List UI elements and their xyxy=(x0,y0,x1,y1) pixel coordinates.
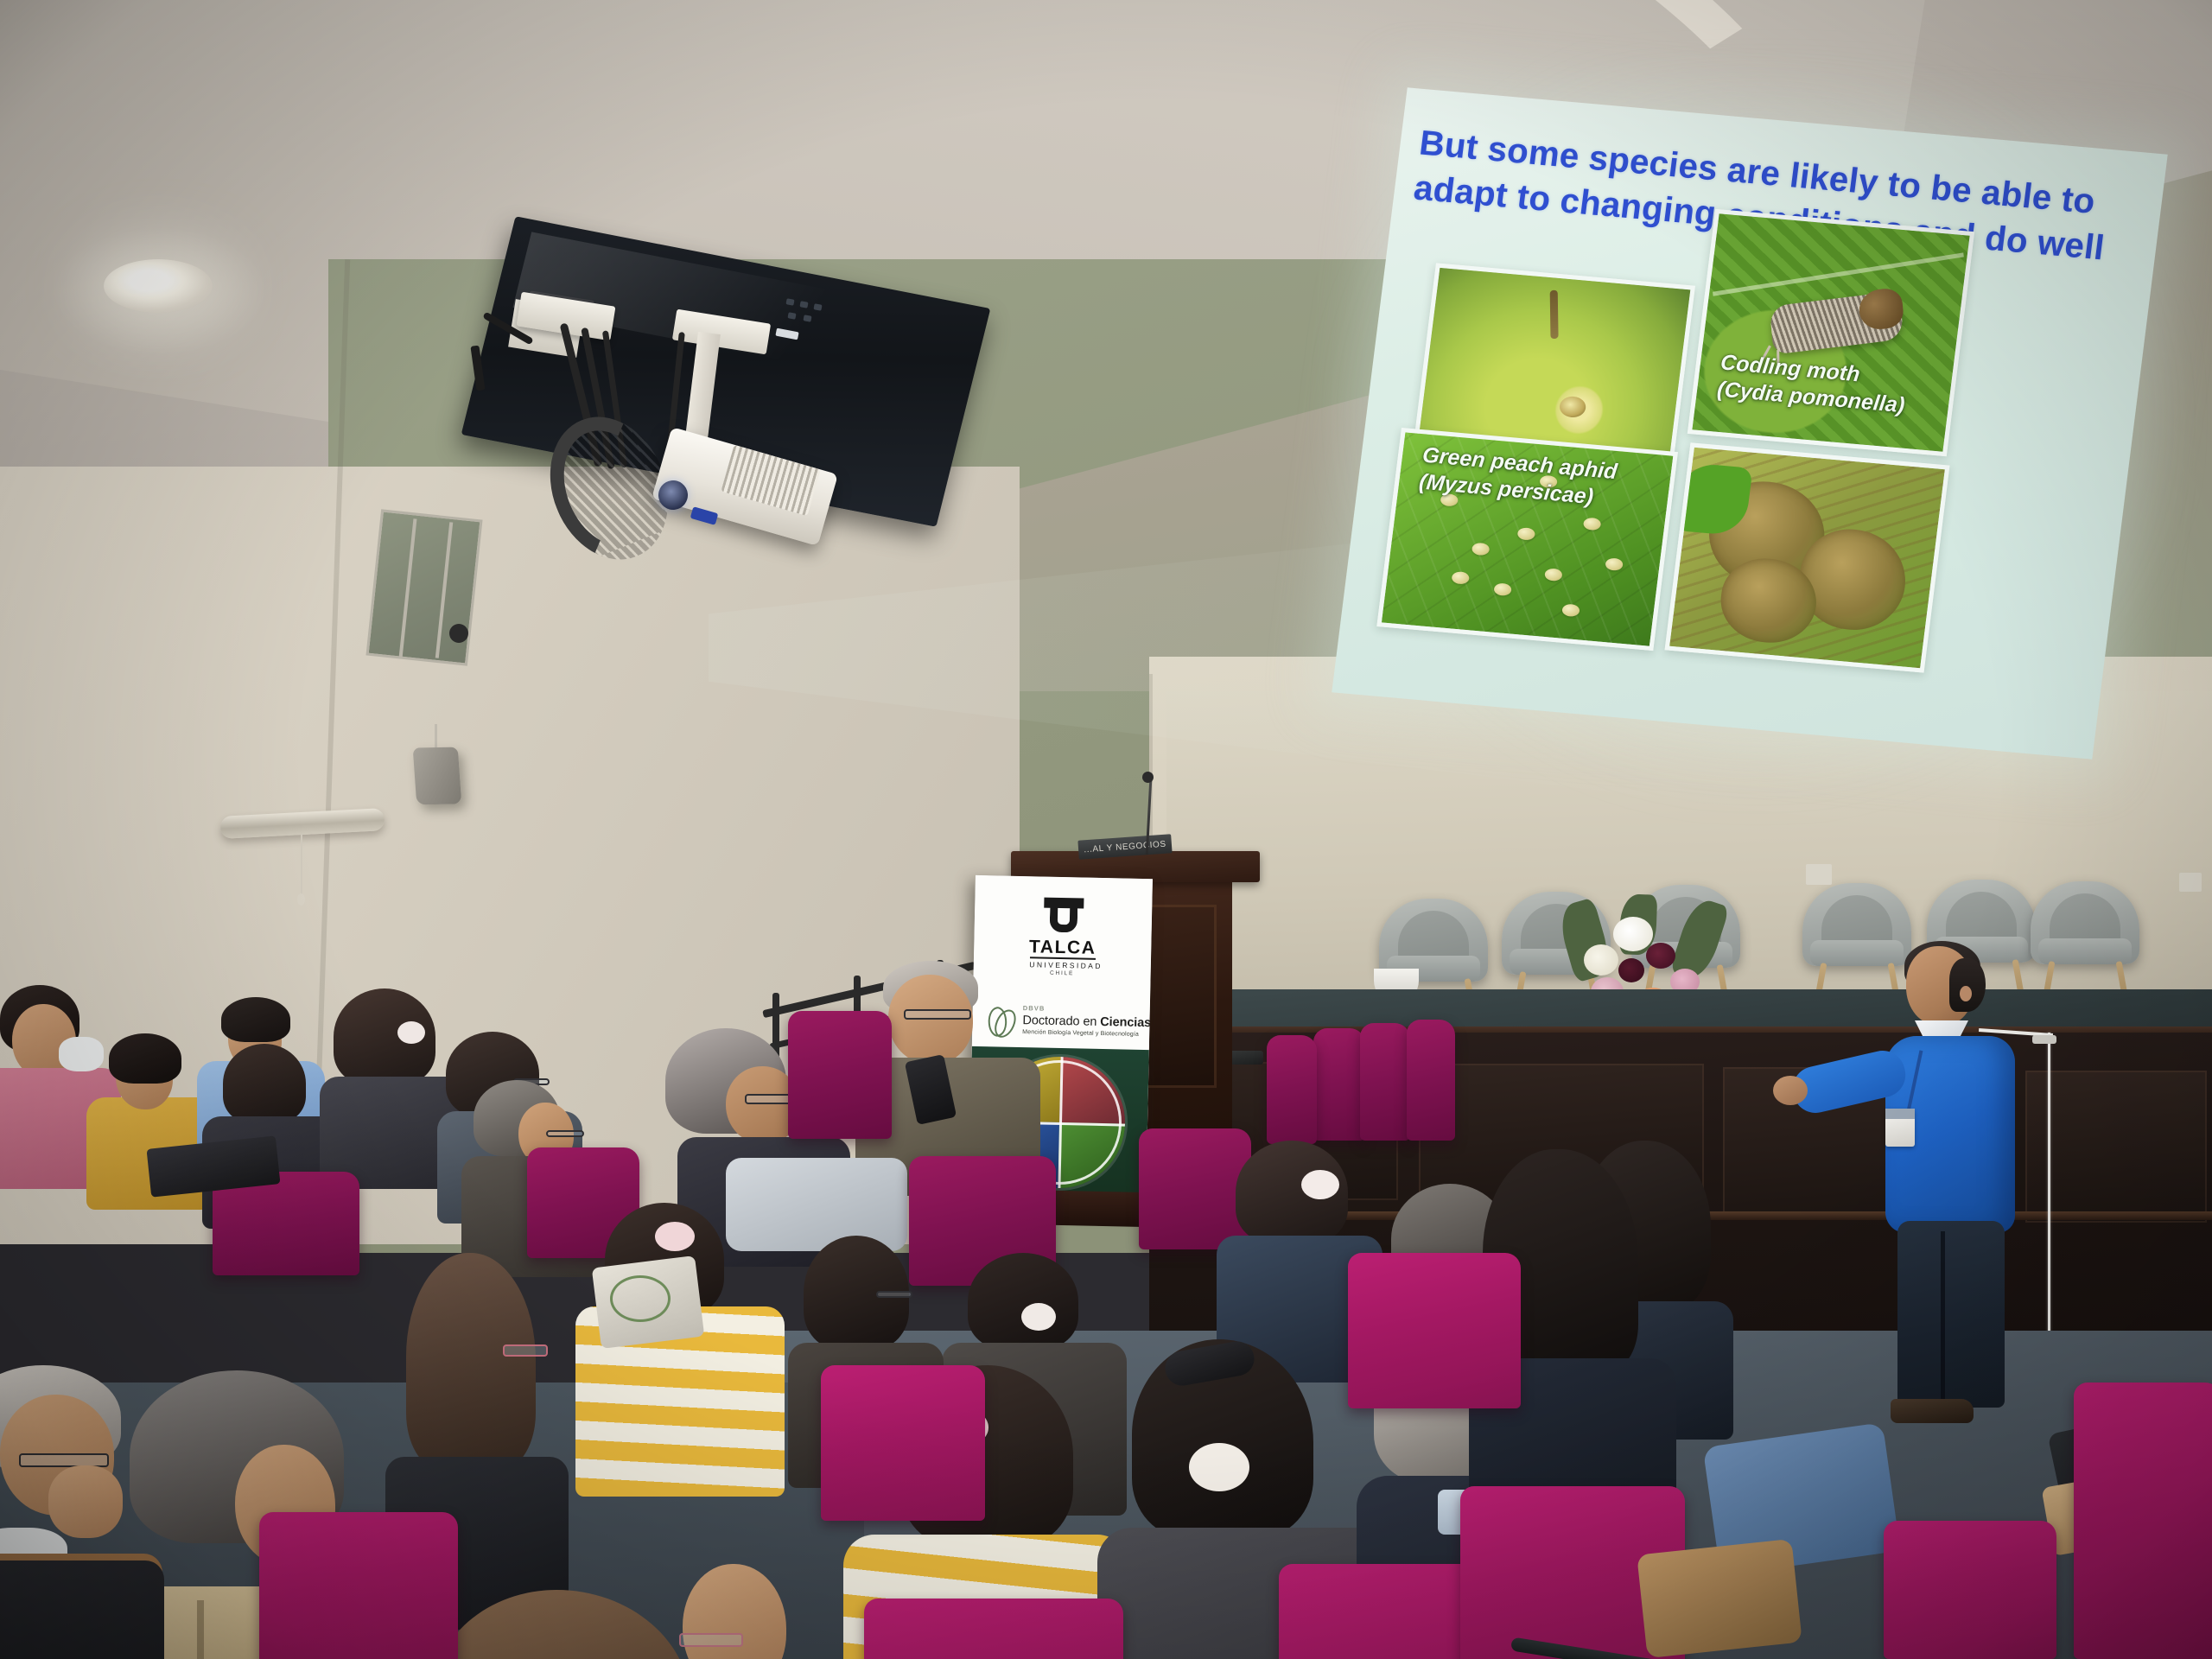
seat-back-3[interactable] xyxy=(1407,1020,1455,1141)
seat-back-5[interactable] xyxy=(788,1011,892,1139)
presenter-leg-seam xyxy=(1941,1231,1945,1404)
wall-outlet-2[interactable] xyxy=(2179,873,2202,892)
panel-button-2[interactable] xyxy=(799,301,808,308)
presenter-hair-back xyxy=(1949,958,1986,1012)
screen-cord-tip[interactable] xyxy=(297,893,305,906)
projected-slide: But some species are likely to be able t… xyxy=(1332,87,2168,759)
panel-button-5[interactable] xyxy=(803,315,811,322)
panel-button-4[interactable] xyxy=(787,312,796,320)
presenter-ear xyxy=(1960,986,1972,1001)
leaf-vein xyxy=(1713,252,1964,296)
downlight-1-haze xyxy=(52,226,268,356)
banner-university-sub: UNIVERSIDAD xyxy=(1029,957,1095,970)
audience-boot-1 xyxy=(1637,1539,1802,1658)
front-1-hand xyxy=(48,1465,123,1538)
slide-photo-damaged-leaves xyxy=(1665,442,1950,672)
presenter-shoe xyxy=(1891,1399,1974,1423)
seat-front-right-2[interactable] xyxy=(1884,1521,2056,1659)
wall-outlet[interactable] xyxy=(1806,864,1832,885)
audience xyxy=(0,994,1642,1659)
university-u-logo-icon xyxy=(1043,898,1084,935)
presenter-hand xyxy=(1773,1076,1808,1105)
auditorium-presentation-photo: But some species are likely to be able t… xyxy=(0,0,2212,1659)
seat-front-right[interactable] xyxy=(2074,1382,2212,1659)
seat-back-8[interactable] xyxy=(1139,1128,1251,1249)
front-2-jacket-seam xyxy=(197,1600,204,1659)
presenter xyxy=(1866,946,2065,1430)
panel-button-3[interactable] xyxy=(813,303,822,311)
seat-back-2[interactable] xyxy=(1360,1023,1410,1141)
seat-back-4[interactable] xyxy=(1267,1035,1317,1144)
audience-grey-jacket xyxy=(726,1158,907,1251)
front-5-handout-logo xyxy=(610,1275,671,1322)
lectern-sign-text: ...AL Y NEGOCIOS xyxy=(1084,839,1166,855)
microphone-icon xyxy=(1142,772,1154,783)
screen-pull-cord[interactable] xyxy=(301,835,302,897)
presenter-trousers xyxy=(1897,1221,2005,1408)
pa-speaker-bracket xyxy=(435,724,437,750)
panel-button-1[interactable] xyxy=(785,298,794,306)
wall-mount-knob xyxy=(449,624,468,643)
wall-glass-panel xyxy=(365,509,482,665)
presenter-id-badge xyxy=(1885,1109,1915,1147)
wall-speaker-icon xyxy=(413,747,462,805)
seat-front-5[interactable] xyxy=(864,1599,1123,1659)
seat-mid-1[interactable] xyxy=(259,1512,458,1659)
banner-university-name: TALCA xyxy=(974,936,1151,960)
larva-entry-hole xyxy=(1558,396,1586,419)
seat-back-1[interactable] xyxy=(1313,1028,1365,1141)
seat-mid-3[interactable] xyxy=(1348,1253,1521,1408)
apple-stem xyxy=(1550,290,1559,340)
seat-mid-2[interactable] xyxy=(821,1365,985,1521)
